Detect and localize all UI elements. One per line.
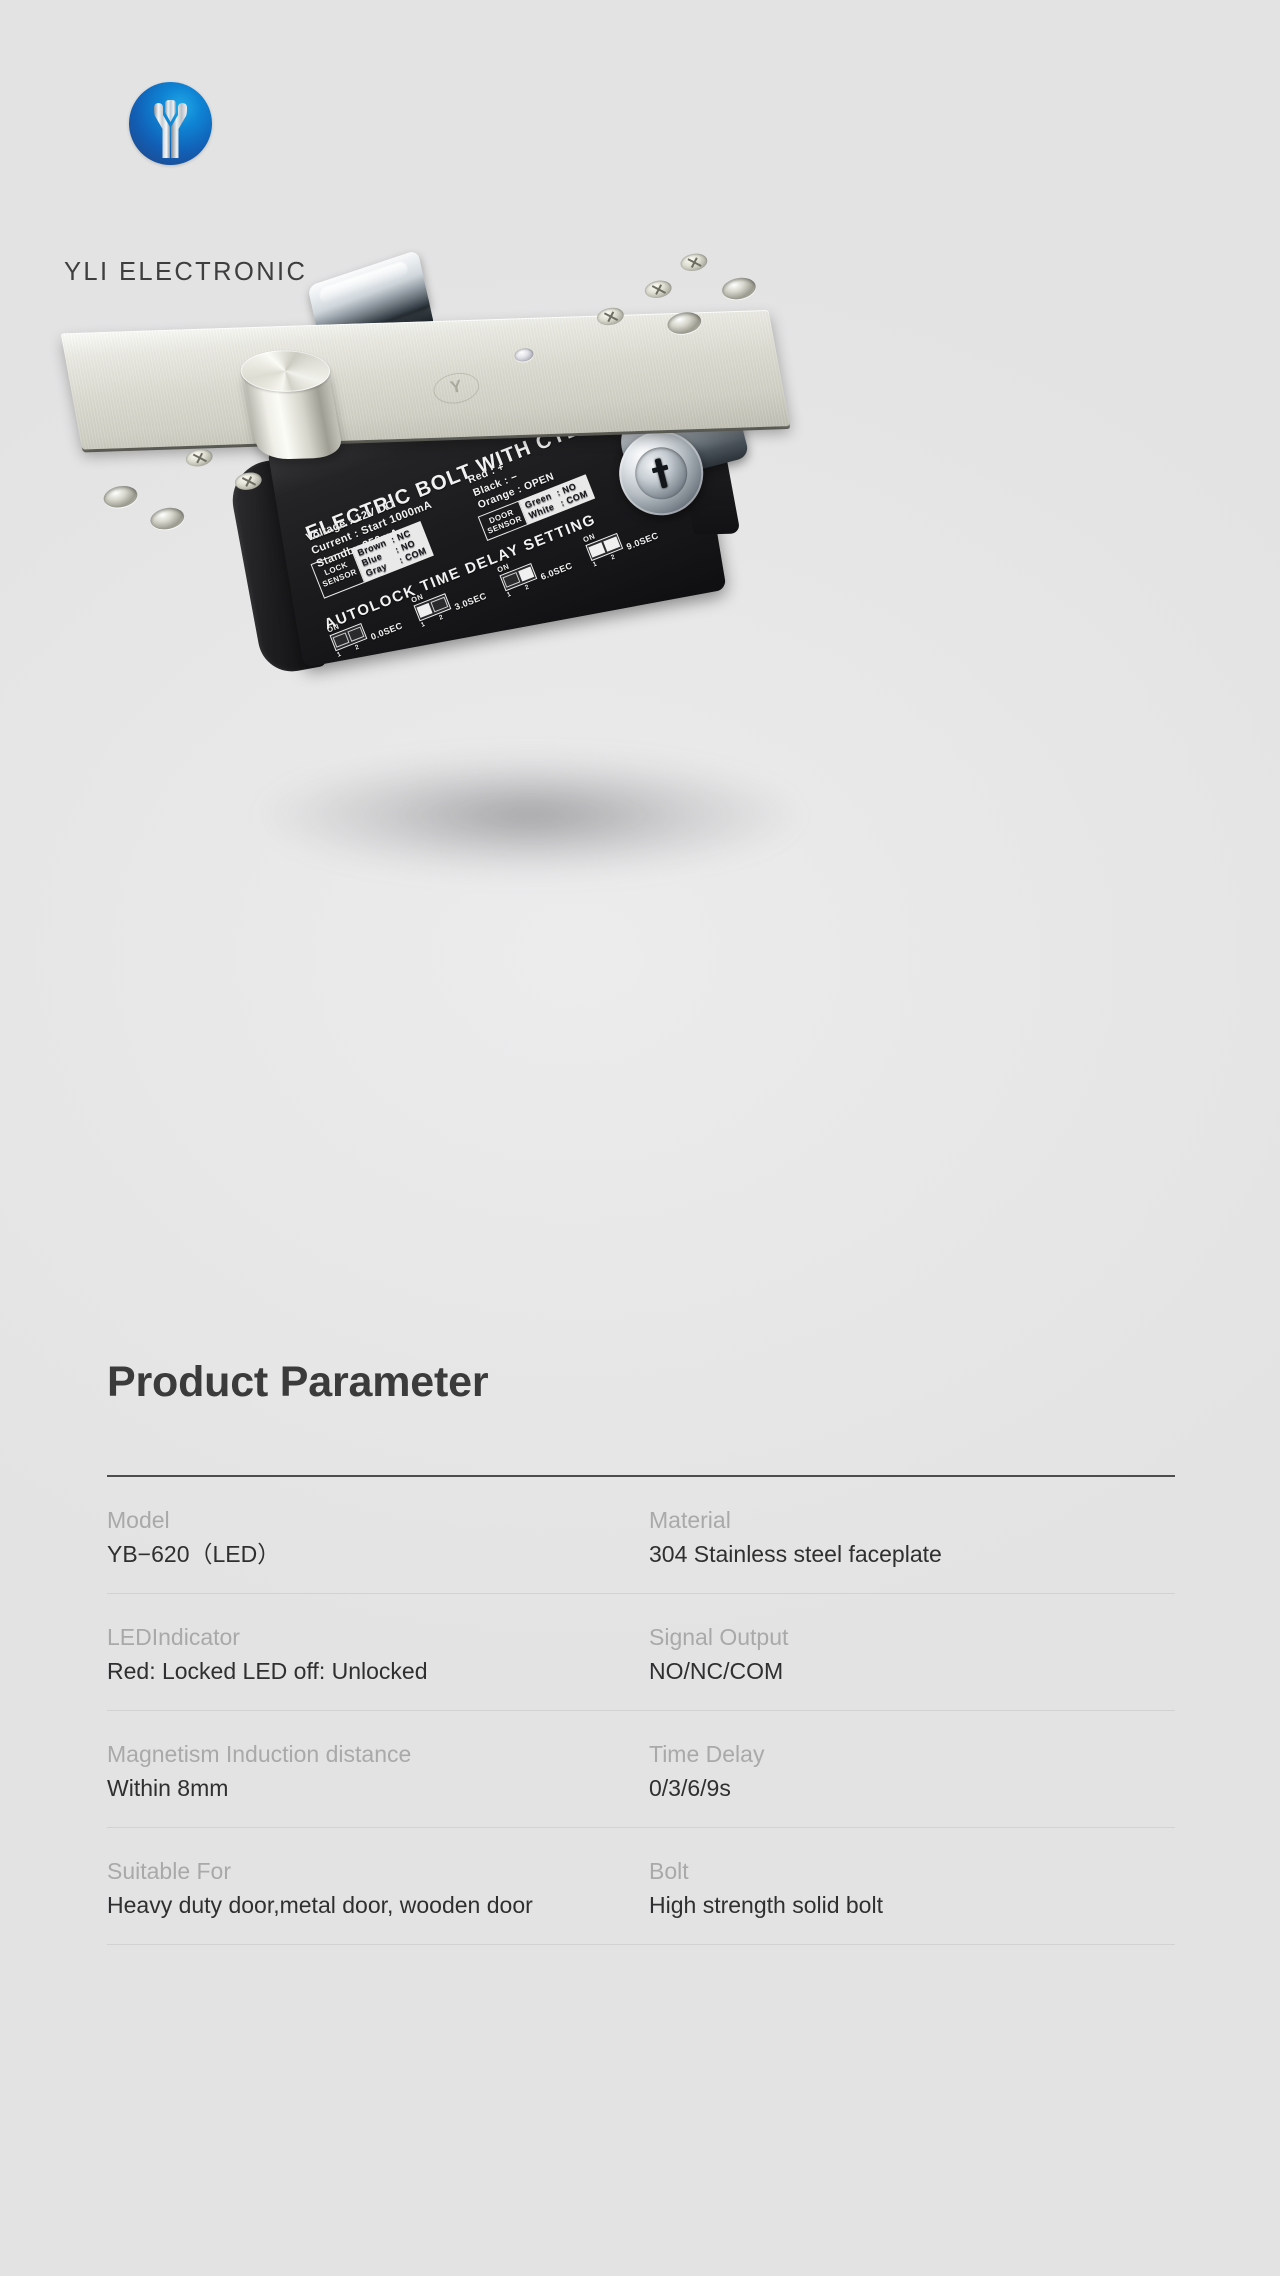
spec-value: Heavy duty door,metal door, wooden door [107,1890,617,1920]
spec-label: Magnetism Induction distance [107,1739,617,1769]
spec-value: YB−620（LED） [107,1539,617,1569]
faceplate-hole-2 [149,505,186,532]
spec-cell-material: Material 304 Stainless steel faceplate [641,1505,1175,1569]
spec-label: Suitable For [107,1856,617,1886]
spec-cell-time-delay: Time Delay 0/3/6/9s [641,1739,1175,1803]
dip-3-seconds: 6.0SEC [539,560,574,582]
product-image: ELECTRIC BOLT WITH CYLINDER Voltage : 12… [0,300,1280,920]
spec-label: Signal Output [649,1622,1151,1652]
spec-value: NO/NC/COM [649,1656,1151,1686]
table-row: LEDIndicator Red: Locked LED off: Unlock… [107,1594,1175,1711]
spec-cell-bolt: Bolt High strength solid bolt [641,1856,1175,1920]
dip-2-seconds: 3.0SEC [453,591,488,613]
spec-label: LEDIndicator [107,1622,617,1652]
faceplate-screw-1 [184,447,214,469]
spec-label: Bolt [649,1856,1151,1886]
spec-value: 304 Stainless steel faceplate [649,1539,1151,1569]
spec-value: 0/3/6/9s [649,1773,1151,1803]
keyway-icon [655,458,668,489]
faceplate-screw-5 [679,251,709,273]
spec-cell-magnetism-induction-distance: Magnetism Induction distance Within 8mm [107,1739,641,1803]
spec-cell-suitable-for: Suitable For Heavy duty door,metal door,… [107,1856,641,1920]
table-row: Model YB−620（LED） Material 304 Stainless… [107,1477,1175,1594]
brand-name: YLI ELECTRONIC [64,258,307,287]
spec-label: Time Delay [649,1739,1151,1769]
spec-cell-led-indicator: LEDIndicator Red: Locked LED off: Unlock… [107,1622,641,1686]
faceplate-emboss-letter: Y [449,377,464,399]
dip-1-seconds: 0.0SEC [369,620,404,642]
table-row: Magnetism Induction distance Within 8mm … [107,1711,1175,1828]
spec-cell-model: Model YB−620（LED） [107,1505,641,1569]
spec-value: High strength solid bolt [649,1890,1151,1920]
bolt-gloss [318,260,409,305]
brand-logo [129,82,212,165]
spec-cell-signal-output: Signal Output NO/NC/COM [641,1622,1175,1686]
spec-label: Material [649,1505,1151,1535]
yli-y-logo-icon [129,82,212,165]
spec-label: Model [107,1505,617,1535]
faceplate-hole-1 [102,483,139,510]
faceplate-hole-4 [720,275,757,302]
spec-value: Within 8mm [107,1773,617,1803]
product-page: YLI ELECTRONIC ELECTRIC BOLT WITH CYLIND… [0,0,1280,2276]
page-title: Product Parameter [107,1358,488,1407]
cylinder-plug [630,442,693,505]
spec-value: Red: Locked LED off: Unlocked [107,1656,617,1686]
faceplate-screw-4 [643,278,673,300]
parameter-table: Model YB−620（LED） Material 304 Stainless… [107,1477,1175,1945]
table-row: Suitable For Heavy duty door,metal door,… [107,1828,1175,1945]
